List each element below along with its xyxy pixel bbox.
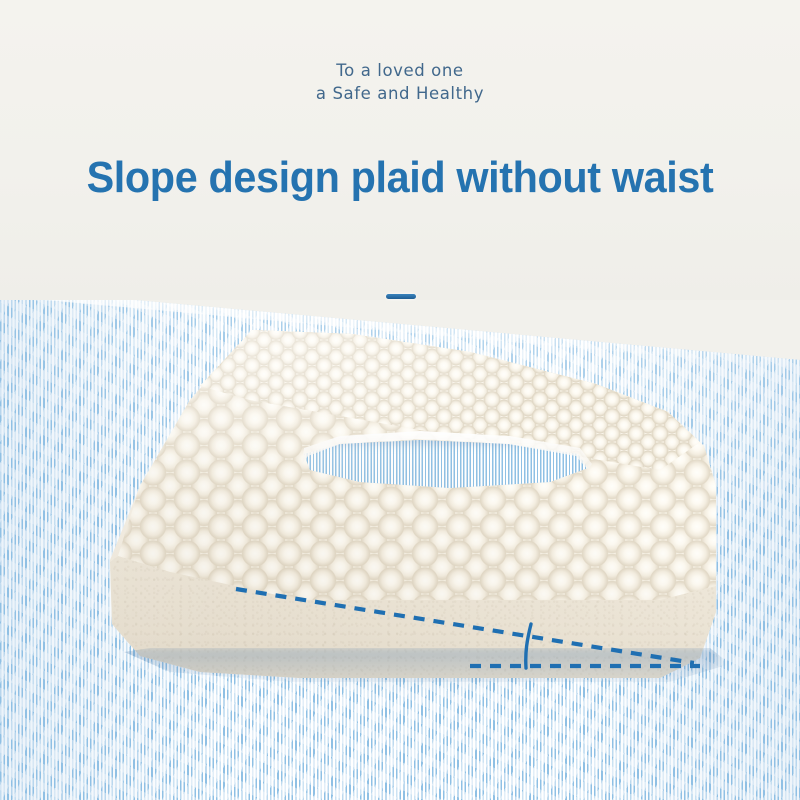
- wedge-height-marker: [526, 624, 531, 668]
- divider-bar: [386, 294, 416, 299]
- product-banner: To a loved one a Safe and Healthy Slope …: [0, 0, 800, 800]
- subtitle-line-1: To a loved one: [0, 60, 800, 82]
- subtitle-line-2: a Safe and Healthy: [0, 83, 800, 105]
- dashed-slope-line-top: [236, 589, 694, 663]
- banner-headline: Slope design plaid without waist: [24, 152, 776, 204]
- banner-header: To a loved one a Safe and Healthy Slope …: [0, 0, 800, 300]
- banner-subtitle: To a loved one a Safe and Healthy: [0, 60, 800, 105]
